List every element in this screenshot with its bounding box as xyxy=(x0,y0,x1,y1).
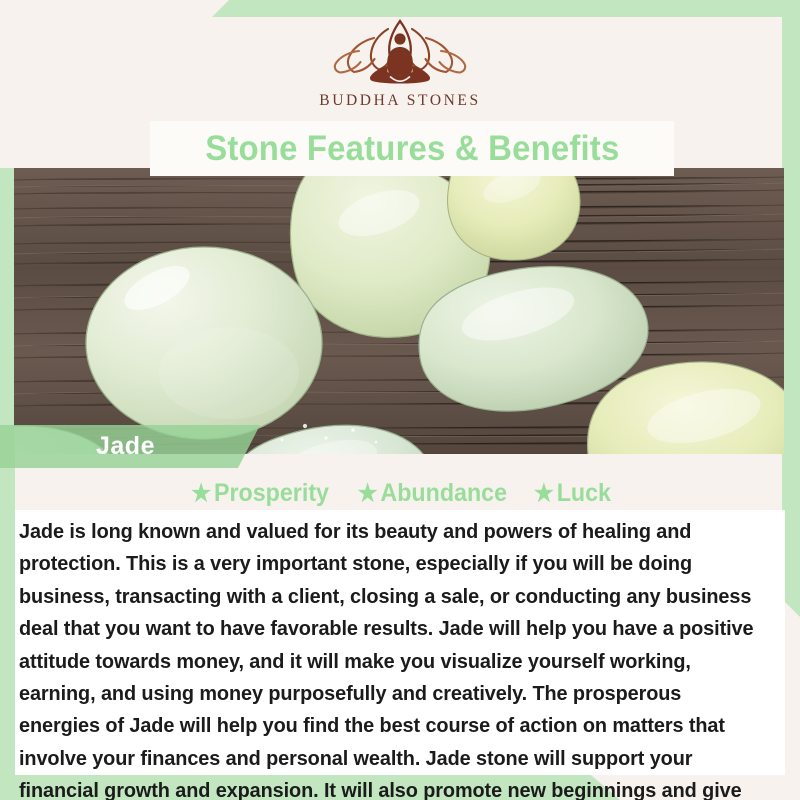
benefit-label: Prosperity xyxy=(214,479,329,507)
star-icon: ★ xyxy=(534,480,554,507)
benefit-label: Luck xyxy=(557,479,611,507)
star-icon: ★ xyxy=(191,480,211,507)
star-icon: ★ xyxy=(358,480,378,507)
page-title: Stone Features & Benefits xyxy=(205,129,619,169)
lotus-meditation-icon xyxy=(330,14,470,90)
benefit-label: Abundance xyxy=(381,479,508,507)
benefit-item-abundance: ★Abundance xyxy=(358,479,507,508)
benefit-item-luck: ★Luck xyxy=(534,479,611,508)
description-text: Jade is long known and valued for its be… xyxy=(19,516,754,800)
stone-benefits-poster: BUDDHA STONES Stone Features & Benefits xyxy=(0,0,800,800)
brand-name: BUDDHA STONES xyxy=(270,92,530,110)
stone-name-text: Jade xyxy=(96,432,155,461)
photo-illustration xyxy=(14,168,784,454)
benefit-item-prosperity: ★Prosperity xyxy=(191,479,329,508)
title-banner: Stone Features & Benefits xyxy=(150,121,674,176)
description-panel: Jade is long known and valued for its be… xyxy=(15,510,785,775)
stone-name-label: Jade xyxy=(0,425,260,468)
benefits-row: ★Prosperity ★Abundance ★Luck xyxy=(0,479,800,508)
brand-header: BUDDHA STONES xyxy=(0,0,800,128)
jade-stones-photo xyxy=(14,168,784,454)
brand-logo: BUDDHA STONES xyxy=(270,14,530,110)
